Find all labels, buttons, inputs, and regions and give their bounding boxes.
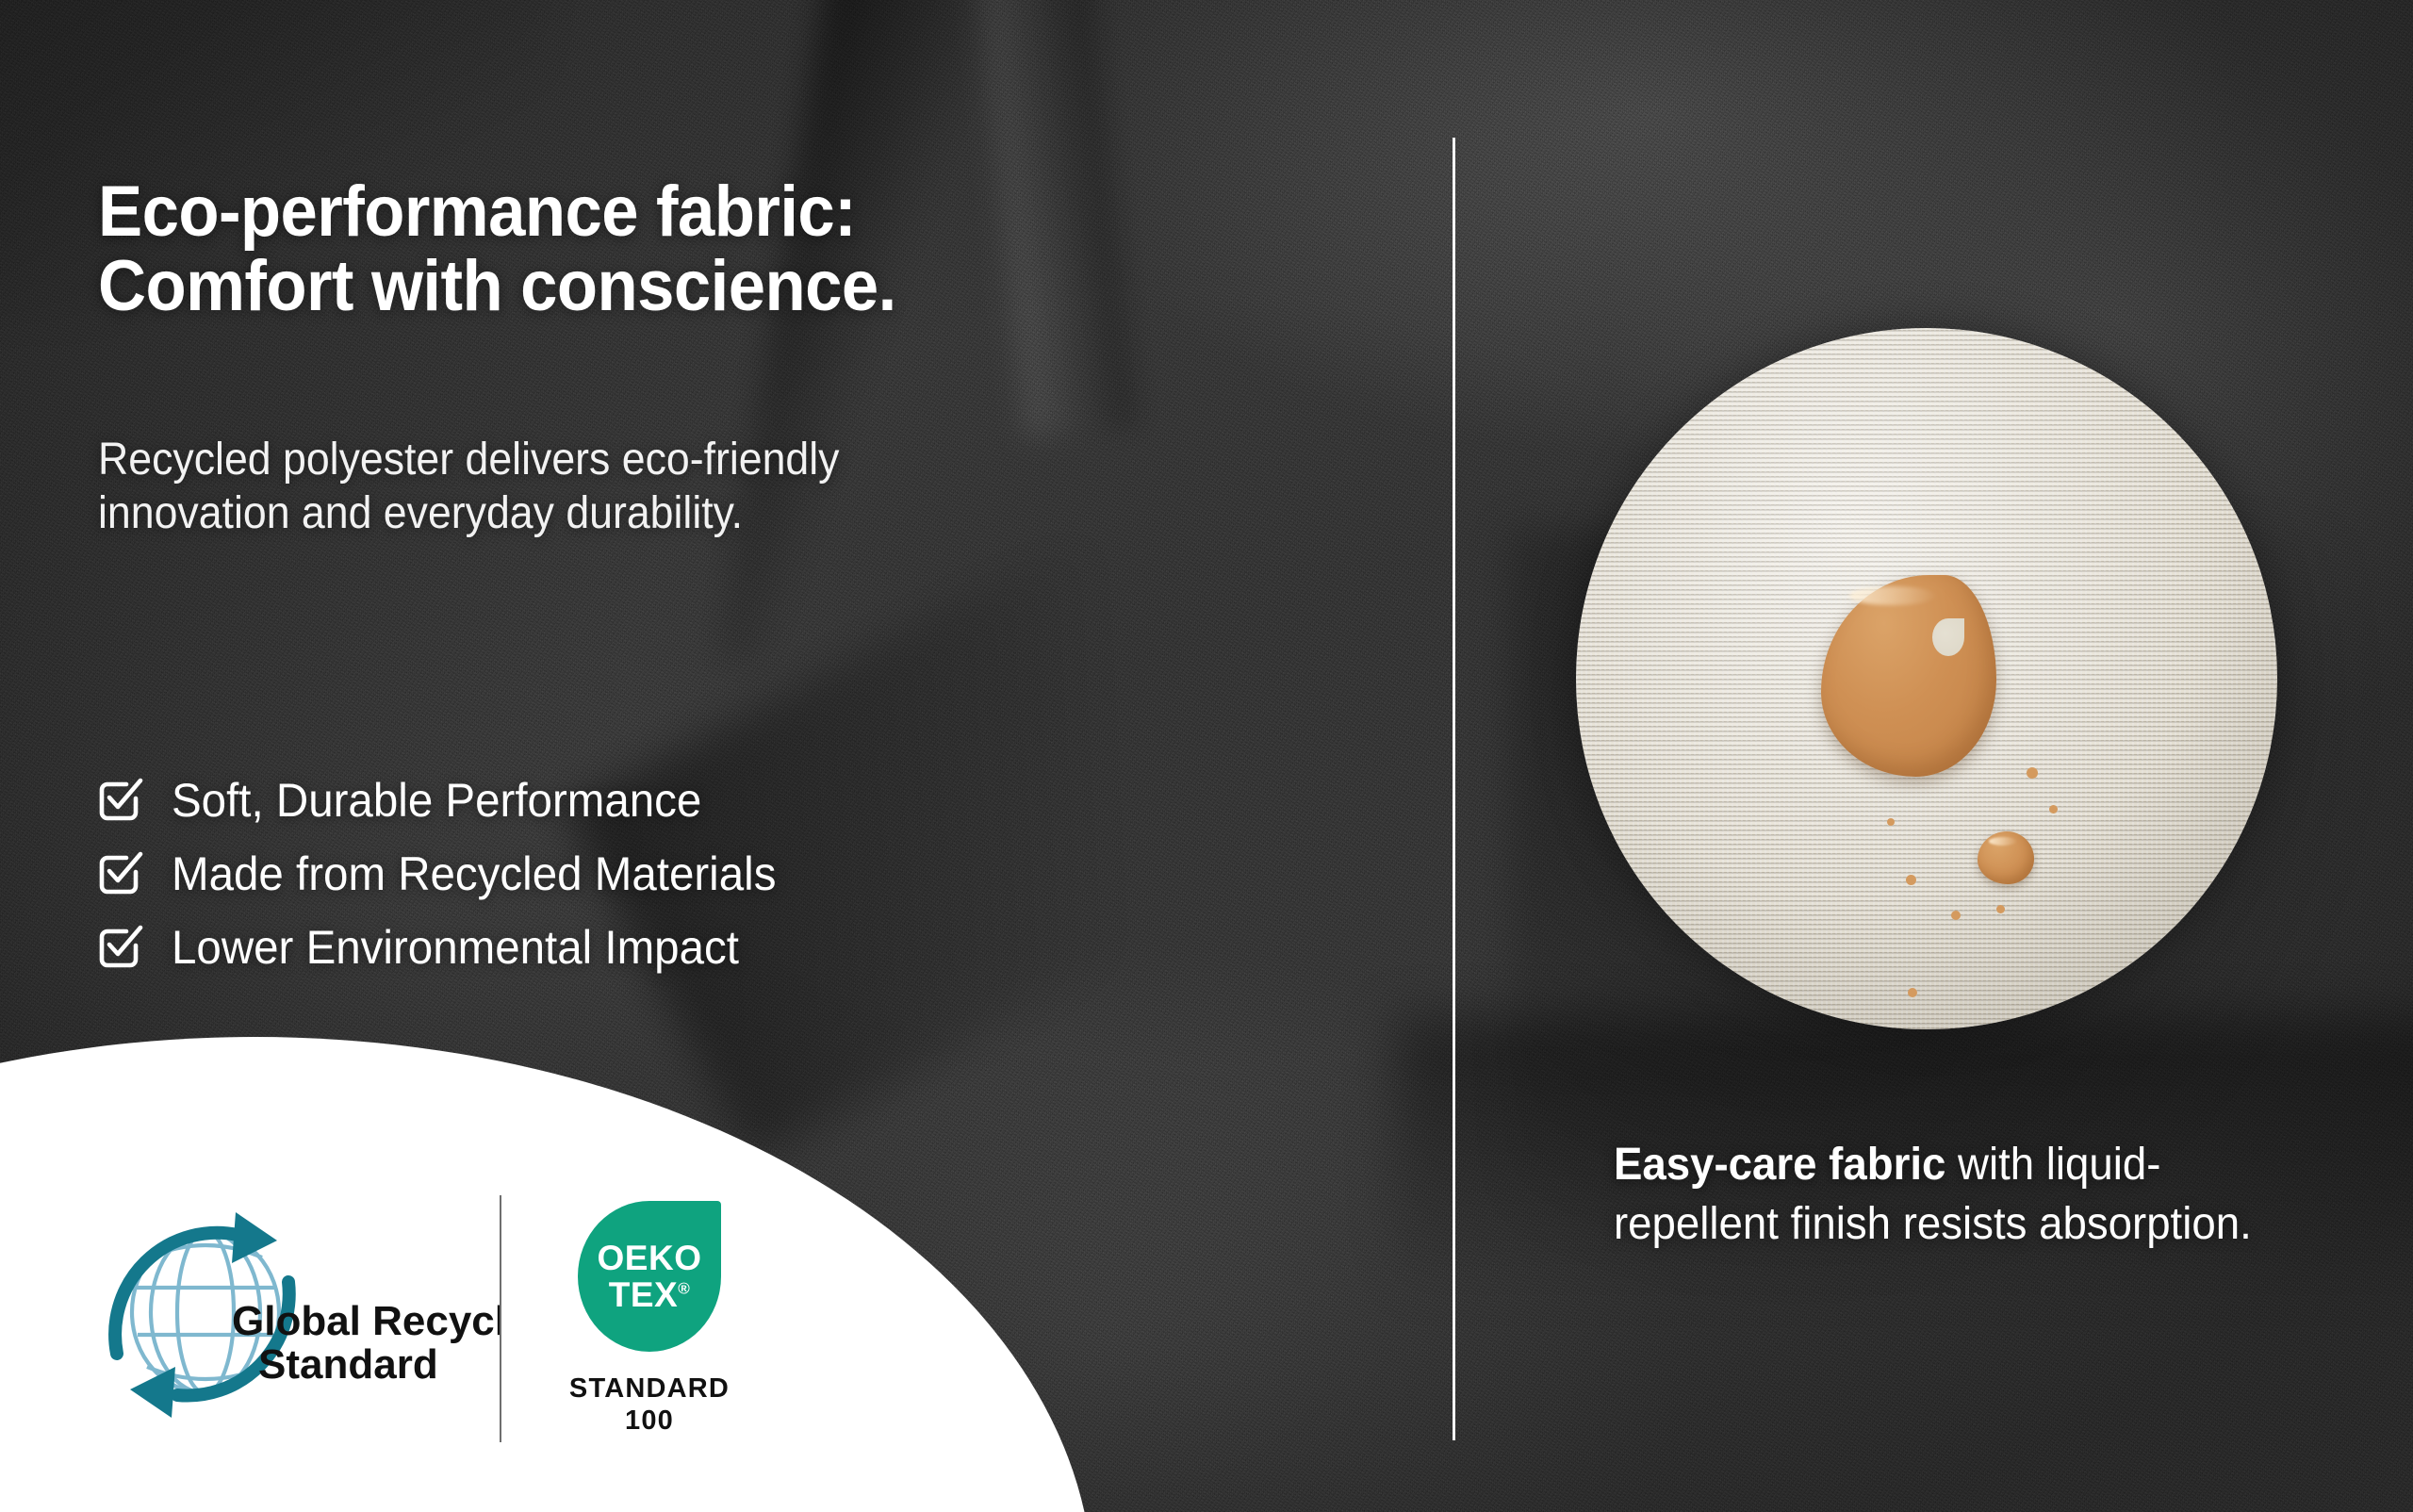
- liquid-bead-small: [1978, 831, 2034, 884]
- registered-trademark-icon: ®: [678, 1279, 690, 1297]
- grs-line1: Global Recycled: [232, 1298, 500, 1344]
- liquid-speck: [2027, 767, 2038, 779]
- list-item-label: Soft, Durable Performance: [172, 773, 701, 828]
- grs-line2: Standard: [258, 1341, 438, 1388]
- global-recycled-standard-logo: Global Recycled Standard: [94, 1201, 500, 1437]
- liquid-speck: [1951, 911, 1961, 920]
- liquid-speck: [1887, 818, 1895, 826]
- check-square-icon: [98, 925, 143, 970]
- list-item-label: Lower Environmental Impact: [172, 920, 739, 975]
- oeko-tex-line2: TEX®: [609, 1276, 691, 1313]
- oeko-tex-leaf-mark: OEKO TEX®: [578, 1201, 721, 1352]
- oeko-standard-line1: STANDARD: [569, 1372, 730, 1405]
- check-square-icon: [98, 851, 143, 896]
- liquid-speck: [1996, 905, 2005, 913]
- subtitle: Recycled polyester delivers eco-friendly…: [98, 434, 1150, 540]
- list-item: Lower Environmental Impact: [98, 920, 808, 975]
- oeko-tex-standard-100-logo: OEKO TEX® STANDARD 100: [541, 1201, 758, 1437]
- liquid-speck: [2049, 805, 2058, 814]
- oeko-tex-standard-text: STANDARD 100: [569, 1372, 730, 1437]
- vertical-divider: [1453, 138, 1455, 1440]
- certification-logos: Global Recycled Standard OEKO TEX® STAND…: [94, 1195, 758, 1442]
- liquid-speck: [1906, 875, 1916, 885]
- inset-caption-bold: Easy-care fabric: [1614, 1140, 1945, 1190]
- oeko-tex-line1: OEKO: [598, 1240, 702, 1276]
- logo-divider: [500, 1195, 501, 1442]
- page-title: Eco-performance fabric: Comfort with con…: [98, 174, 1343, 323]
- list-item-label: Made from Recycled Materials: [172, 846, 776, 901]
- oeko-standard-line2: 100: [569, 1405, 730, 1437]
- benefits-checklist: Soft, Durable Performance Made from Recy…: [98, 773, 808, 975]
- inset-caption: Easy-care fabric with liquid-repellent f…: [1614, 1135, 2322, 1255]
- marketing-infographic: Eco-performance fabric: Comfort with con…: [0, 0, 2413, 1512]
- list-item: Soft, Durable Performance: [98, 773, 808, 828]
- liquid-repellency-photo-inset: [1576, 328, 2277, 1029]
- liquid-speck: [1908, 988, 1917, 997]
- check-square-icon: [98, 778, 143, 823]
- list-item: Made from Recycled Materials: [98, 846, 808, 901]
